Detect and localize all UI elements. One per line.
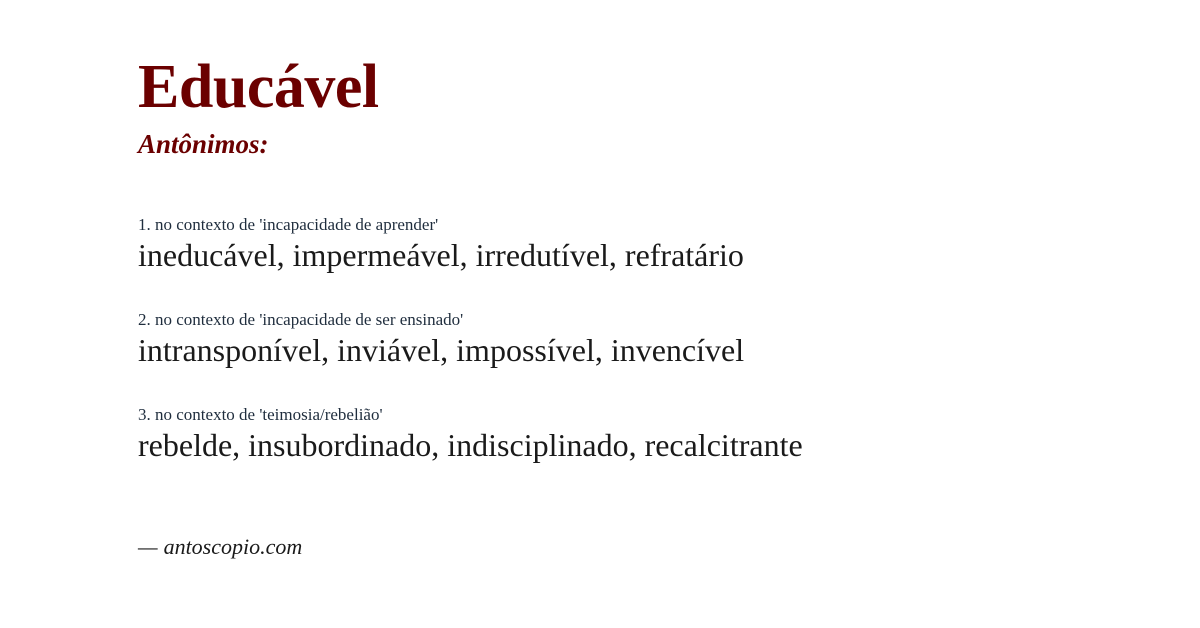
entry-context-label: 3. no contexto de 'teimosia/rebelião' (138, 404, 1160, 425)
entry-context-label: 2. no contexto de 'incapacidade de ser e… (138, 309, 1160, 330)
section-label-antonyms: Antônimos: (138, 130, 1160, 160)
entry-context-label: 1. no contexto de 'incapacidade de apren… (138, 214, 1160, 235)
list-item: 1. no contexto de 'incapacidade de apren… (138, 214, 1160, 275)
source-name: antoscopio.com (164, 534, 303, 559)
card-content: Educável Antônimos: 1. no contexto de 'i… (138, 56, 1160, 465)
entry-terms: intransponível, inviável, impossível, in… (138, 332, 1160, 370)
list-item: 2. no contexto de 'incapacidade de ser e… (138, 309, 1160, 370)
em-dash-icon: — (138, 534, 158, 559)
entry-terms: rebelde, insubordinado, indisciplinado, … (138, 427, 1160, 465)
entry-terms: ineducável, impermeável, irredutível, re… (138, 237, 1160, 275)
thesaurus-card: Educável Antônimos: 1. no contexto de 'i… (0, 0, 1200, 628)
source-attribution: —antoscopio.com (138, 534, 302, 560)
antonym-entry-list: 1. no contexto de 'incapacidade de apren… (138, 214, 1160, 465)
list-item: 3. no contexto de 'teimosia/rebelião' re… (138, 404, 1160, 465)
page-title: Educável (138, 56, 1160, 118)
